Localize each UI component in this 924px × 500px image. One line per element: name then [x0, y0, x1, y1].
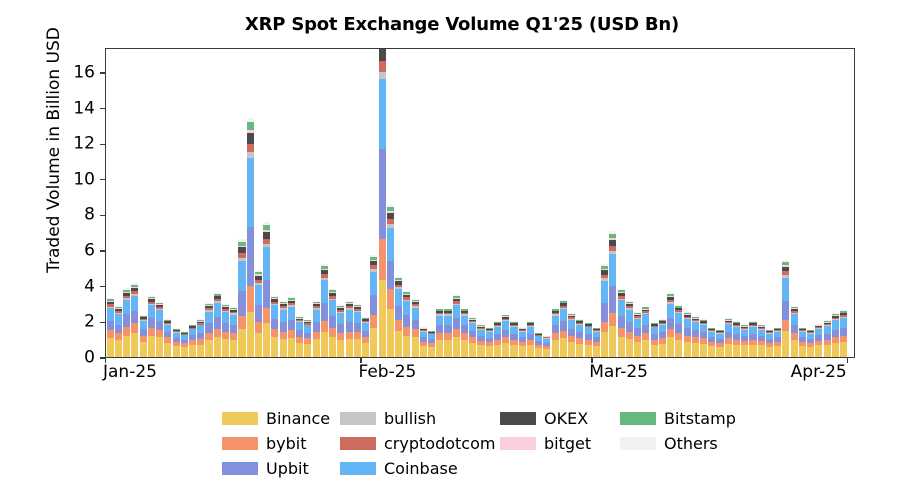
- bar-segment: [412, 308, 419, 320]
- x-tick-mark: [847, 358, 848, 363]
- bar-segment: [288, 307, 295, 320]
- bar-segment: [131, 323, 138, 333]
- bar-segment: [214, 329, 221, 337]
- bar-stack: [749, 321, 756, 357]
- bar-segment: [379, 280, 386, 357]
- bar-segment: [675, 333, 682, 340]
- bar-segment: [148, 305, 155, 317]
- legend-item-binance[interactable]: Binance: [222, 411, 340, 427]
- legend-item-cryptodotcom[interactable]: cryptodotcom: [340, 436, 500, 452]
- bar-stack: [379, 49, 386, 357]
- bar-segment: [255, 285, 262, 305]
- bar-stack: [527, 321, 534, 357]
- bar-segment: [618, 328, 625, 337]
- bar-stack: [461, 309, 468, 357]
- bar-segment: [552, 340, 559, 357]
- legend-label: Binance: [266, 411, 330, 427]
- bar-segment: [758, 345, 765, 357]
- bar-segment: [733, 327, 740, 334]
- bar-segment: [370, 272, 377, 295]
- bar-segment: [461, 316, 468, 326]
- bar-stack: [634, 312, 641, 357]
- bar-segment: [238, 261, 245, 291]
- bar-segment: [609, 326, 616, 357]
- bar-segment: [469, 323, 476, 331]
- bar-segment: [684, 342, 691, 357]
- bar-stack: [675, 305, 682, 357]
- legend-swatch-icon: [340, 412, 376, 425]
- bar-stack: [428, 330, 435, 357]
- bar-segment: [791, 333, 798, 340]
- bar-segment: [370, 315, 377, 327]
- bar-stack: [832, 313, 839, 357]
- bar-segment: [321, 280, 328, 302]
- bar-segment: [156, 310, 163, 321]
- bar-segment: [123, 300, 130, 314]
- y-tick-label: 0: [55, 350, 95, 367]
- bar-segment: [115, 314, 122, 325]
- bar-segment: [247, 133, 254, 144]
- chart-title: XRP Spot Exchange Volume Q1'25 (USD Bn): [0, 14, 924, 35]
- bar-segment: [238, 291, 245, 316]
- bar-segment: [247, 144, 254, 152]
- bar-segment: [329, 337, 336, 357]
- bar-segment: [346, 332, 353, 339]
- legend-swatch-icon: [620, 437, 656, 450]
- bar-segment: [313, 310, 320, 322]
- bar-segment: [271, 329, 278, 337]
- bar-stack: [263, 222, 270, 357]
- bar-segment: [263, 247, 270, 280]
- bar-segment: [123, 314, 130, 326]
- bar-segment: [749, 345, 756, 357]
- bar-segment: [230, 333, 237, 340]
- bar-segment: [280, 310, 287, 322]
- bar-segment: [271, 337, 278, 357]
- bar-stack: [782, 260, 789, 357]
- bar-segment: [774, 346, 781, 357]
- bar-segment: [552, 333, 559, 340]
- bar-segment: [552, 316, 559, 326]
- legend-swatch-icon: [222, 462, 258, 475]
- bar-segment: [123, 327, 130, 336]
- bar-segment: [700, 344, 707, 357]
- legend-label: bitget: [544, 436, 591, 452]
- bar-segment: [140, 321, 147, 329]
- bar-stack: [403, 291, 410, 357]
- bar-segment: [156, 337, 163, 357]
- legend-label: OKEX: [544, 411, 588, 427]
- bar-segment: [255, 305, 262, 322]
- bar-segment: [576, 344, 583, 357]
- bar-stack: [824, 320, 831, 357]
- y-tick-label: 12: [55, 136, 95, 153]
- bar-segment: [296, 330, 303, 337]
- bar-stack: [205, 303, 212, 357]
- bar-stack: [741, 325, 748, 357]
- bar-segment: [576, 325, 583, 332]
- bar-segment: [115, 340, 122, 357]
- bar-segment: [230, 340, 237, 357]
- bar-segment: [609, 254, 616, 286]
- bar-segment: [197, 345, 204, 357]
- bar-segment: [477, 345, 484, 357]
- bar-segment: [403, 315, 410, 327]
- bar-segment: [222, 323, 229, 332]
- bar-segment: [321, 303, 328, 322]
- bar-segment: [618, 316, 625, 328]
- bar-segment: [329, 300, 336, 315]
- bar-stack: [469, 317, 476, 357]
- bar-stack: [453, 295, 460, 357]
- bar-stack: [173, 328, 180, 357]
- bar-segment: [321, 321, 328, 332]
- bar-segment: [263, 323, 270, 357]
- bar-stack: [733, 321, 740, 357]
- bar-segment: [634, 319, 641, 328]
- bar-segment: [280, 332, 287, 339]
- bar-stack: [304, 320, 311, 357]
- bar-segment: [593, 346, 600, 357]
- legend-label: bybit: [266, 436, 307, 452]
- bar-segment: [148, 336, 155, 357]
- bar-segment: [379, 149, 386, 238]
- bar-segment: [807, 347, 814, 357]
- bar-segment: [692, 330, 699, 337]
- bar-stack: [181, 331, 188, 357]
- bar-segment: [304, 344, 311, 357]
- bar-segment: [280, 339, 287, 357]
- bar-segment: [453, 305, 460, 318]
- bar-stack: [337, 305, 344, 357]
- bar-segment: [519, 346, 526, 357]
- bar-segment: [436, 333, 443, 340]
- bar-stack: [708, 328, 715, 357]
- bar-segment: [387, 309, 394, 357]
- bar-stack: [618, 289, 625, 357]
- legend-swatch-icon: [222, 412, 258, 425]
- bar-segment: [461, 340, 468, 357]
- bar-stack: [535, 333, 542, 357]
- bar-segment: [494, 327, 501, 334]
- bar-segment: [453, 318, 460, 329]
- bar-segment: [782, 278, 789, 301]
- bar-segment: [659, 344, 666, 357]
- bar-stack: [412, 299, 419, 357]
- bar-segment: [510, 327, 517, 334]
- plot-area: [105, 48, 855, 358]
- legend-item-bullish[interactable]: bullish: [340, 411, 500, 427]
- bar-stack: [197, 319, 204, 357]
- bar-segment: [436, 316, 443, 326]
- bar-segment: [313, 322, 320, 332]
- bar-stack: [502, 315, 509, 357]
- bar-segment: [618, 300, 625, 315]
- bar-segment: [370, 328, 377, 357]
- bar-segment: [329, 328, 336, 337]
- bar-segment: [280, 322, 287, 332]
- bar-stack: [444, 309, 451, 357]
- bar-segment: [181, 347, 188, 357]
- legend-label: Coinbase: [384, 461, 458, 477]
- bar-segment: [634, 342, 641, 357]
- bar-segment: [337, 340, 344, 357]
- bar-segment: [502, 343, 509, 357]
- legend-swatch-icon: [500, 412, 536, 425]
- bar-segment: [486, 346, 493, 357]
- bar-stack: [321, 264, 328, 357]
- bar-stack: [684, 312, 691, 357]
- bar-segment: [461, 325, 468, 333]
- legend-swatch-icon: [340, 437, 376, 450]
- bar-segment: [164, 325, 171, 332]
- bar-segment: [107, 308, 114, 320]
- bar-segment: [288, 320, 295, 331]
- bar-segment: [222, 332, 229, 339]
- bar-segment: [684, 328, 691, 335]
- bar-stack: [791, 306, 798, 357]
- bar-stack: [774, 328, 781, 357]
- bar-segment: [354, 312, 361, 323]
- bar-segment: [164, 343, 171, 357]
- bar-segment: [131, 311, 138, 323]
- bar-segment: [255, 322, 262, 333]
- y-tick-label: 16: [55, 64, 95, 81]
- bar-segment: [148, 328, 155, 336]
- bar-segment: [634, 328, 641, 335]
- bar-segment: [642, 314, 649, 324]
- bar-stack: [346, 301, 353, 357]
- bar-segment: [502, 321, 509, 330]
- bar-segment: [527, 345, 534, 357]
- bar-segment: [782, 301, 789, 321]
- bar-segment: [444, 340, 451, 357]
- bar-stack: [576, 319, 583, 357]
- bar-segment: [214, 337, 221, 357]
- legend-item-others[interactable]: Others: [620, 436, 750, 452]
- bar-segment: [263, 280, 270, 308]
- bar-segment: [304, 325, 311, 332]
- bar-stack: [140, 315, 147, 357]
- bar-segment: [156, 330, 163, 337]
- bar-segment: [560, 321, 567, 331]
- bar-segment: [173, 346, 180, 357]
- bar-stack: [486, 328, 493, 357]
- bar-stack: [280, 301, 287, 357]
- bar-segment: [346, 339, 353, 357]
- bar-segment: [791, 314, 798, 325]
- bar-stack: [494, 321, 501, 357]
- bar-segment: [832, 330, 839, 337]
- bar-segment: [379, 72, 386, 79]
- bar-segment: [403, 301, 410, 315]
- bar-segment: [412, 337, 419, 357]
- bar-segment: [197, 325, 204, 332]
- bar-segment: [214, 317, 221, 329]
- bar-segment: [444, 325, 451, 333]
- bar-segment: [428, 347, 435, 357]
- bar-stack: [354, 304, 361, 357]
- bar-segment: [799, 346, 806, 357]
- bar-segment: [379, 79, 386, 149]
- bar-stack: [766, 330, 773, 357]
- bar-stack: [601, 264, 608, 357]
- bar-segment: [791, 340, 798, 357]
- bar-segment: [568, 342, 575, 357]
- bar-segment: [741, 345, 748, 357]
- bar-segment: [436, 325, 443, 333]
- legend-item-bybit[interactable]: bybit: [222, 436, 340, 452]
- bar-segment: [370, 295, 377, 315]
- legend-item-bitstamp[interactable]: Bitstamp: [620, 411, 750, 427]
- bar-segment: [568, 320, 575, 329]
- bar-segment: [337, 324, 344, 333]
- bar-segment: [560, 338, 567, 357]
- bar-segment: [395, 320, 402, 331]
- bar-segment: [692, 343, 699, 357]
- bar-segment: [651, 327, 658, 334]
- legend-item-okex[interactable]: OKEX: [500, 411, 620, 427]
- bar-segment: [444, 333, 451, 340]
- bar-segment: [387, 289, 394, 309]
- bar-segment: [379, 61, 386, 72]
- bar-segment: [362, 323, 369, 331]
- bar-segment: [618, 337, 625, 357]
- bar-segment: [651, 345, 658, 357]
- bar-segment: [601, 281, 608, 303]
- chart-legend: BinancebullishOKEXBitstampbybitcryptodot…: [222, 406, 782, 481]
- y-tick-label: 10: [55, 171, 95, 188]
- bar-stack: [148, 296, 155, 357]
- legend-swatch-icon: [500, 437, 536, 450]
- bar-segment: [115, 333, 122, 340]
- bar-segment: [749, 327, 756, 334]
- bar-segment: [222, 339, 229, 357]
- y-tick-label: 2: [55, 314, 95, 331]
- bar-stack: [807, 330, 814, 357]
- bar-stack: [609, 231, 616, 357]
- bar-segment: [123, 336, 130, 357]
- y-tick-label: 4: [55, 278, 95, 295]
- bar-segment: [733, 345, 740, 357]
- bar-segment: [156, 321, 163, 330]
- bar-stack: [214, 293, 221, 357]
- bar-segment: [453, 329, 460, 337]
- bar-stack: [593, 328, 600, 357]
- y-tick-label: 6: [55, 243, 95, 260]
- bar-segment: [667, 304, 674, 318]
- bar-segment: [313, 332, 320, 339]
- bar-segment: [247, 227, 254, 286]
- bar-segment: [247, 286, 254, 312]
- bar-segment: [230, 325, 237, 333]
- bar-stack: [568, 313, 575, 357]
- bar-segment: [346, 322, 353, 332]
- legend-label: cryptodotcom: [384, 436, 495, 452]
- bar-segment: [642, 340, 649, 357]
- bar-stack: [222, 304, 229, 357]
- bar-segment: [700, 325, 707, 332]
- bar-segment: [675, 324, 682, 333]
- bar-stack: [716, 330, 723, 357]
- bar-stack: [156, 302, 163, 357]
- bar-stack: [552, 309, 559, 357]
- legend-item-bitget[interactable]: bitget: [500, 436, 620, 452]
- bar-segment: [436, 340, 443, 357]
- bar-segment: [296, 343, 303, 357]
- bar-segment: [247, 122, 254, 129]
- bar-segment: [412, 320, 419, 330]
- bar-stack: [543, 335, 550, 357]
- bar-segment: [782, 331, 789, 357]
- bar-stack: [560, 300, 567, 357]
- legend-item-coinbase[interactable]: Coinbase: [340, 461, 500, 477]
- bar-segment: [543, 349, 550, 357]
- bar-segment: [609, 313, 616, 326]
- bar-segment: [684, 319, 691, 328]
- legend-item-upbit[interactable]: Upbit: [222, 461, 340, 477]
- bar-segment: [609, 286, 616, 313]
- legend-label: bullish: [384, 411, 436, 427]
- bar-segment: [659, 325, 666, 332]
- bar-segment: [321, 332, 328, 357]
- legend-swatch-icon: [340, 462, 376, 475]
- bar-segment: [642, 325, 649, 334]
- bar-segment: [527, 327, 534, 334]
- bar-segment: [725, 324, 732, 332]
- bar-segment: [453, 337, 460, 357]
- bar-segment: [626, 339, 633, 357]
- bar-segment: [189, 345, 196, 357]
- bar-segment: [675, 340, 682, 357]
- bar-segment: [840, 342, 847, 357]
- bar-stack: [247, 118, 254, 357]
- x-tick-label: Feb-25: [358, 364, 416, 381]
- bar-segment: [535, 348, 542, 357]
- legend-label: Bitstamp: [664, 411, 736, 427]
- bar-stack: [659, 319, 666, 357]
- bar-segment: [131, 333, 138, 357]
- bar-segment: [444, 316, 451, 326]
- bar-segment: [395, 306, 402, 320]
- bar-segment: [601, 332, 608, 357]
- bar-segment: [354, 332, 361, 339]
- bar-segment: [815, 345, 822, 357]
- bar-stack: [370, 255, 377, 357]
- bar-stack: [510, 321, 517, 357]
- bar-segment: [461, 333, 468, 340]
- bar-segment: [560, 309, 567, 321]
- bar-stack: [271, 296, 278, 357]
- bar-segment: [131, 296, 138, 311]
- bar-stack: [329, 289, 336, 357]
- bar-segment: [552, 325, 559, 333]
- x-tick-label: Jan-25: [103, 364, 157, 381]
- bar-segment: [832, 343, 839, 357]
- bar-segment: [205, 312, 212, 324]
- bar-segment: [230, 315, 237, 325]
- bar-segment: [115, 325, 122, 333]
- bar-segment: [403, 327, 410, 336]
- bar-segment: [313, 339, 320, 357]
- bar-segment: [824, 345, 831, 357]
- bar-segment: [387, 261, 394, 290]
- bar-segment: [247, 312, 254, 357]
- bar-stack: [519, 327, 526, 357]
- bar-segment: [815, 329, 822, 336]
- bar-segment: [337, 333, 344, 340]
- bar-stack: [420, 327, 427, 357]
